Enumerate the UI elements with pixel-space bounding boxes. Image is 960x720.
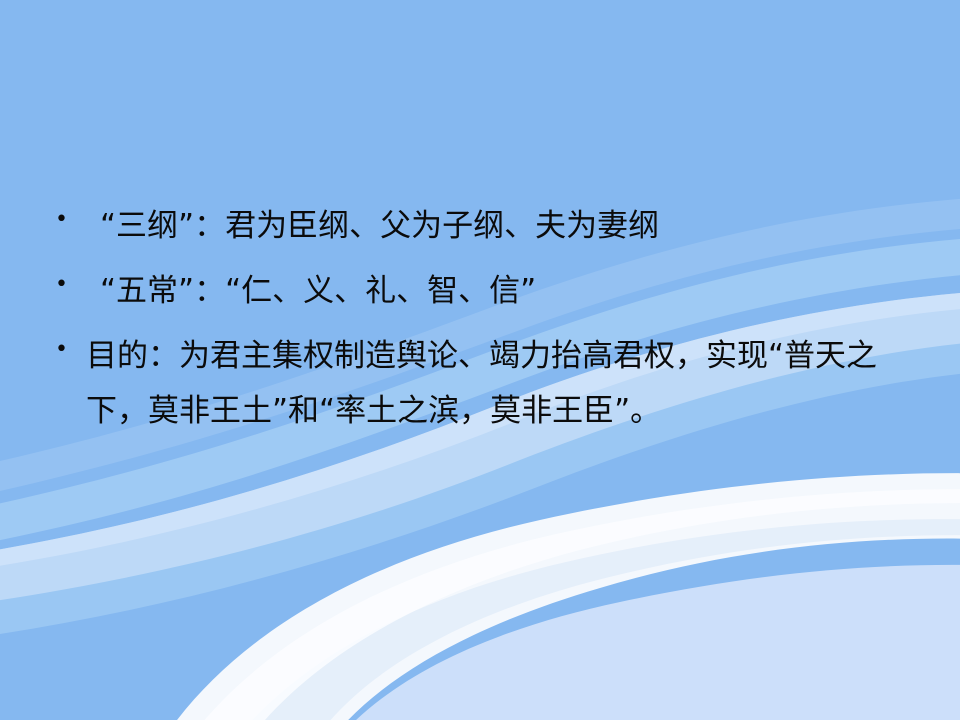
bullet-item-2: • “五常”：“仁、义、礼、智、信” — [55, 264, 536, 319]
slide-content-body: • “三纲”：君为臣纲、父为子纲、夫为妻纲 • “五常”：“仁、义、礼、智、信”… — [0, 0, 960, 720]
bullet-item-1: • “三纲”：君为臣纲、父为子纲、夫为妻纲 — [55, 199, 659, 254]
bullet-marker-icon: • — [55, 329, 77, 371]
bullet-text-2: “五常”：“仁、义、礼、智、信” — [77, 264, 536, 319]
bullet-text-3: 目的：为君主集权制造舆论、竭力抬高君权，实现“普天之下，莫非王土”和“率土之滨，… — [77, 329, 925, 439]
presentation-slide: • “三纲”：君为臣纲、父为子纲、夫为妻纲 • “五常”：“仁、义、礼、智、信”… — [0, 0, 960, 720]
bullet-item-3: • 目的：为君主集权制造舆论、竭力抬高君权，实现“普天之下，莫非王土”和“率土之… — [55, 329, 925, 439]
bullet-text-1: “三纲”：君为臣纲、父为子纲、夫为妻纲 — [77, 199, 659, 254]
bullet-marker-icon: • — [55, 199, 77, 241]
bullet-marker-icon: • — [55, 264, 77, 306]
